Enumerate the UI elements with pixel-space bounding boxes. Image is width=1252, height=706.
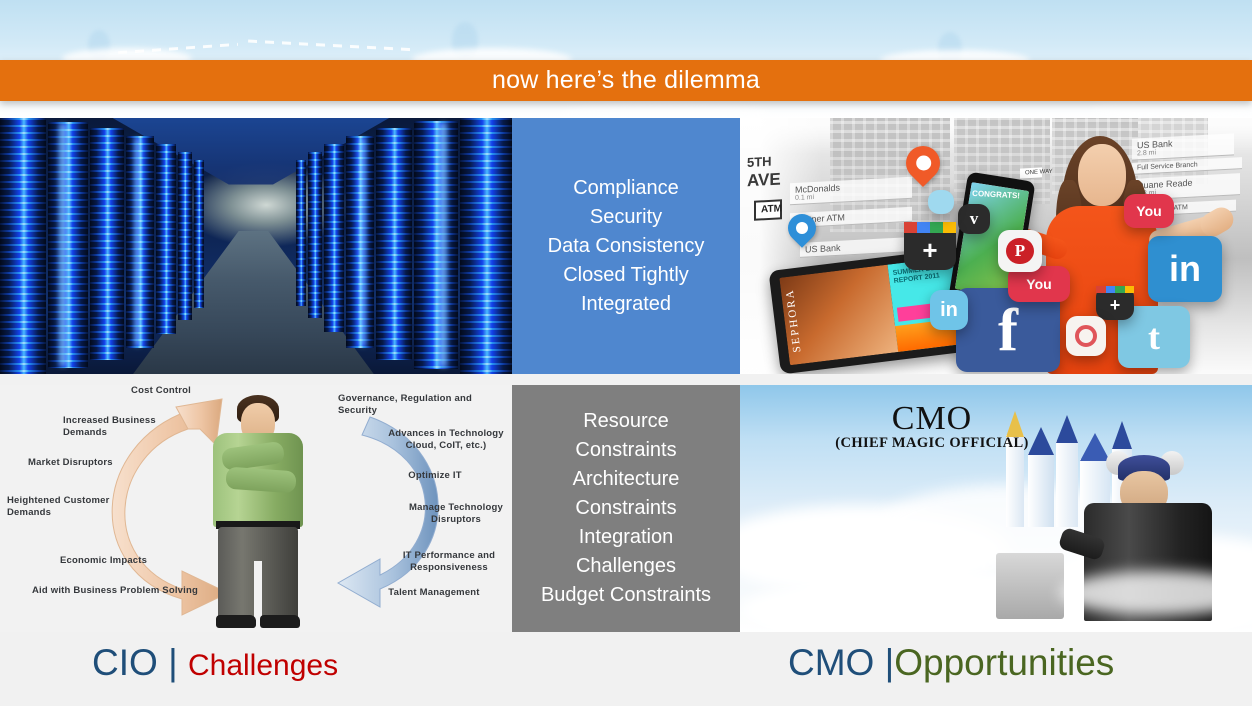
cio-attribute-line: Closed Tightly [563,261,689,290]
cio-challenges-diagram: Cost Control Increased Business Demands … [0,385,512,632]
cio-attribute-line: Integrated [581,290,671,319]
linkedin-icon: in [1148,236,1222,302]
cmo-headline-subtitle: (CHIEF MAGIC OFFICIAL) [802,435,1062,452]
server-rack [376,128,412,360]
pinterest-icon: P [998,230,1042,272]
cmo-constraint-line: Constraints [575,494,676,523]
plus-glyph: + [1110,295,1121,316]
map-result-title: US Bank [805,243,841,255]
sky-dash-line [248,40,418,52]
castle-spire [1112,421,1132,449]
caption-cmo: CMO |Opportunities [788,641,1114,685]
caption-cio-separator: | [168,642,178,683]
man-leg-gap [254,561,262,619]
cloud-bank [1060,571,1252,615]
cio-label-market-disruptors: Market Disruptors [28,457,158,469]
cio-label-manage-technology-disruptors: Manage Technology Disruptors [396,502,512,525]
cmo-headline-title: CMO [802,401,1062,437]
caption-cio-role: CIO [92,642,158,683]
caption-cmo-separator: | [885,642,895,683]
man-shoe [260,615,300,628]
server-rack [156,144,176,334]
map-result-row: US Bank 2.8 mi [1132,133,1234,160]
server-rack [48,122,88,368]
rack-glow [134,138,141,346]
server-rack [460,118,512,374]
castle-spire [1080,433,1110,461]
briefcase [996,553,1064,619]
cmo-constraint-line: Architecture [573,465,680,494]
pinterest-glyph: P [1015,241,1025,261]
youtube-icon: You [1124,194,1174,228]
castle-tower [1056,441,1078,527]
atm-sign: ATM [754,199,782,220]
server-rack [308,152,322,318]
server-rack [296,160,306,306]
slide-root: now here’s the dilemma Compliance Securi… [0,0,1252,706]
cio-label-talent-management: Talent Management [364,587,504,599]
cmo-constraints-panel: Resource Constraints Architecture Constr… [512,385,740,632]
cmo-constraint-line: Challenges [576,552,676,581]
cio-attributes-panel: Compliance Security Data Consistency Clo… [512,118,740,374]
cio-label-heightened-customer-demands: Heightened Customer Demands [7,495,127,518]
sephora-label: SEPHORA [784,288,804,353]
caption-cmo-detail: Opportunities [894,642,1114,683]
datacenter-photo [0,118,512,374]
cio-attribute-line: Security [590,203,662,232]
instagram-icon [1066,316,1106,356]
woman-head [1078,144,1126,206]
server-rack [414,121,458,369]
google-plus-icon: + [1096,286,1134,320]
google-plus-icon: + [904,222,956,270]
cmo-headline: CMO (CHIEF MAGIC OFFICIAL) [802,401,1062,452]
cmo-constraint-line: Constraints [575,436,676,465]
slide-title-band: now here’s the dilemma [0,60,1252,101]
cmo-castle-photo: CMO (CHIEF MAGIC OFFICIAL) [740,385,1252,632]
sephora-ad: SEPHORA [779,265,898,366]
caption-cmo-role: CMO [788,642,874,683]
cmo-constraint-line: Integration [579,523,674,552]
castle-tower [1028,453,1054,527]
map-result-title: Full Service Branch [1137,161,1198,171]
cio-attribute-line: Compliance [573,174,679,203]
server-rack [90,128,124,360]
caption-cio-detail: Challenges [188,649,338,682]
server-rack [194,160,204,308]
server-rack [324,144,344,332]
vimeo-icon: v [958,204,990,234]
server-rack [178,152,192,320]
cio-label-governance-regulation-security: Governance, Regulation and Security [338,393,488,416]
caption-cio: CIO | Challenges [92,641,338,688]
rack-glow [438,123,448,367]
rack-glow [359,138,366,346]
plus-glyph: + [922,235,937,266]
cio-label-economic-impacts: Economic Impacts [60,555,190,567]
cio-label-increased-business-demands: Increased Business Demands [63,415,183,438]
cmo-constraint-line: Resource [583,407,669,436]
one-way-sign: ONE WAY [1020,167,1042,179]
cio-attribute-line: Data Consistency [548,232,705,261]
man-shoe [216,615,256,628]
cmo-constraint-line: Budget Constraints [541,581,711,610]
rack-glow [58,124,68,366]
social-media-collage: 5TH AVE ATM ONE WAY McDonalds 0.1 mi Par… [740,118,1252,374]
slide-title: now here’s the dilemma [492,68,760,93]
cio-label-optimize-it: Optimize IT [390,470,480,482]
cio-label-it-performance-responsiveness: IT Performance and Responsiveness [386,550,512,573]
cio-label-cost-control: Cost Control [106,385,216,397]
social-tile [928,190,954,214]
cloud [560,102,770,118]
tumblr-icon: in [930,290,968,330]
server-rack [0,118,46,374]
cio-label-advances-in-technology: Advances in Technology Cloud, CoIT, etc.… [376,428,512,451]
cio-label-aid-business-problem-solving: Aid with Business Problem Solving [32,585,222,597]
